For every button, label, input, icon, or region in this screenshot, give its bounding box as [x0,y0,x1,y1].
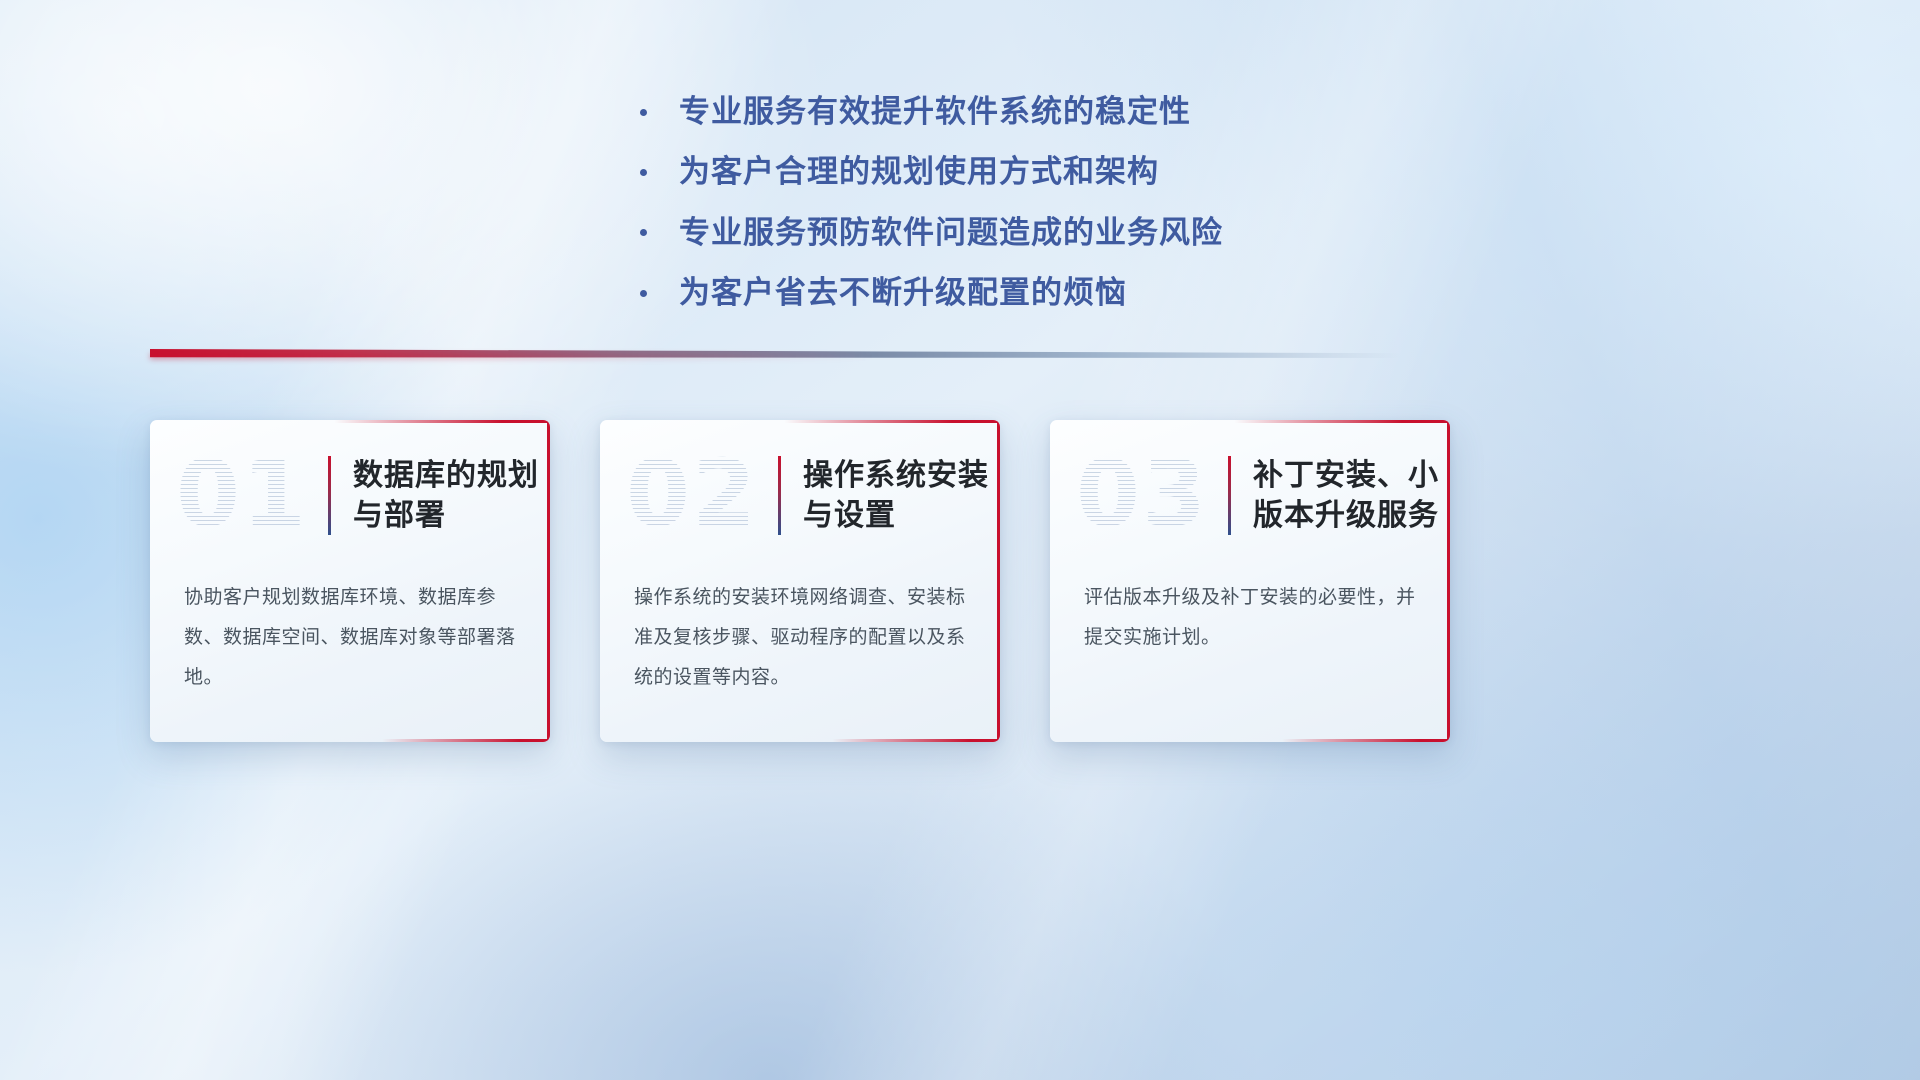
service-card-03[interactable]: 03 补丁安装、小版本升级服务 评估版本升级及补丁安装的必要性，并提交实施计划。 [1050,420,1450,742]
bullet-text: 专业服务有效提升软件系统的稳定性 [679,92,1191,132]
card-title: 数据库的规划与部署 [353,456,550,535]
card-title-group: 补丁安装、小版本升级服务 [1228,456,1450,535]
card-accent-bottom [832,739,1000,742]
bullet-dot-icon [640,290,647,297]
card-title: 补丁安装、小版本升级服务 [1253,456,1450,535]
card-title: 操作系统安装与设置 [803,456,1000,535]
card-description: 评估版本升级及补丁安装的必要性，并提交实施计划。 [1050,578,1450,658]
bullet-dot-icon [640,229,647,236]
bullet-dot-icon [640,169,647,176]
bullet-text: 为客户省去不断升级配置的烦恼 [679,273,1127,313]
list-item: 专业服务预防软件问题造成的业务风险 [640,213,1280,253]
card-number: 01 [176,448,308,540]
bullet-text: 为客户合理的规划使用方式和架构 [679,152,1159,192]
card-title-rule [1228,456,1231,535]
card-header: 01 数据库的规划与部署 [150,420,550,570]
card-description: 操作系统的安装环境网络调查、安装标准及复核步骤、驱动程序的配置以及系统的设置等内… [600,578,1000,698]
card-header: 03 补丁安装、小版本升级服务 [1050,420,1450,570]
list-item: 为客户省去不断升级配置的烦恼 [640,273,1280,313]
red-gradient-divider [150,349,1400,358]
card-header: 02 操作系统安装与设置 [600,420,1000,570]
list-item: 专业服务有效提升软件系统的稳定性 [640,92,1280,132]
card-accent-bottom [382,739,550,742]
card-title-group: 数据库的规划与部署 [328,456,550,535]
card-number: 02 [626,448,758,540]
card-title-group: 操作系统安装与设置 [778,456,1000,535]
service-card-01[interactable]: 01 数据库的规划与部署 协助客户规划数据库环境、数据库参数、数据库空间、数据库… [150,420,550,742]
bullet-list: 专业服务有效提升软件系统的稳定性 为客户合理的规划使用方式和架构 专业服务预防软… [0,92,1920,333]
service-card-02[interactable]: 02 操作系统安装与设置 操作系统的安装环境网络调查、安装标准及复核步骤、驱动程… [600,420,1000,742]
divider-glow [150,354,875,359]
card-description: 协助客户规划数据库环境、数据库参数、数据库空间、数据库对象等部署落地。 [150,578,550,698]
list-item: 为客户合理的规划使用方式和架构 [640,152,1280,192]
card-title-rule [778,456,781,535]
slide-canvas: 专业服务有效提升软件系统的稳定性 为客户合理的规划使用方式和架构 专业服务预防软… [0,0,1920,1080]
card-accent-bottom [1282,739,1450,742]
bullet-text: 专业服务预防软件问题造成的业务风险 [679,213,1223,253]
card-row: 01 数据库的规划与部署 协助客户规划数据库环境、数据库参数、数据库空间、数据库… [150,420,1450,742]
card-number: 03 [1076,448,1208,540]
bullet-dot-icon [640,109,647,116]
card-title-rule [328,456,331,535]
